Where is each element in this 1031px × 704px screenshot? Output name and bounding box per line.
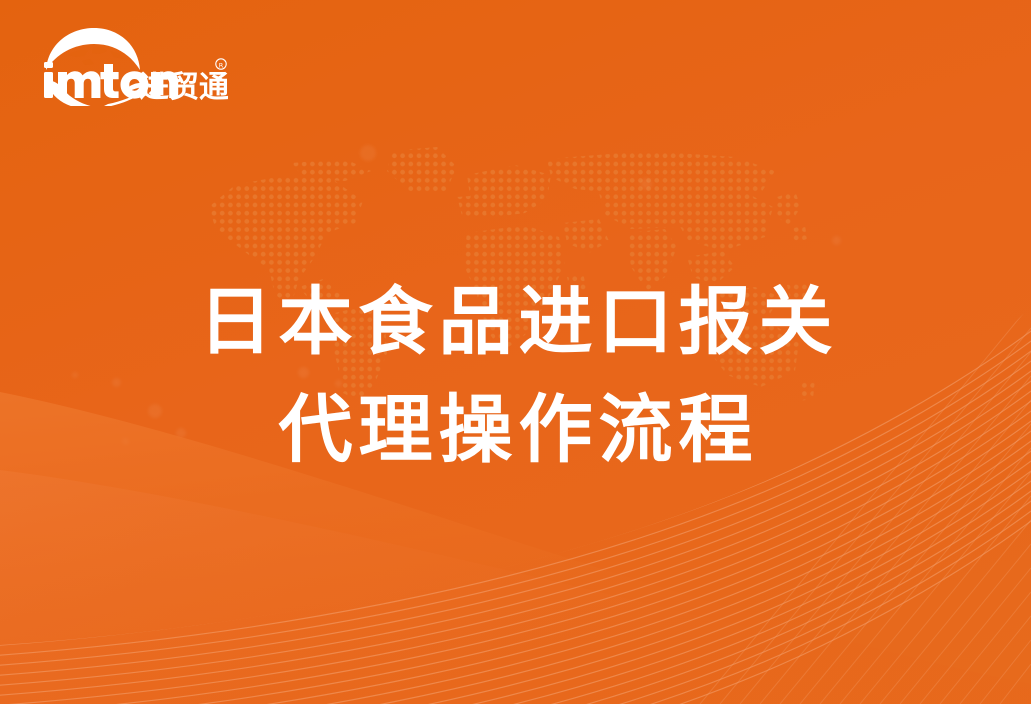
trademark-symbol: R — [216, 59, 226, 70]
logo-chinese-name: 进贸通 — [139, 70, 228, 105]
company-logo[interactable]: 进贸通 R — [38, 24, 228, 106]
title-line-2: 代理操作流程 — [0, 376, 1031, 484]
title-line-1: 日本食品进口报关 — [0, 268, 1031, 376]
svg-text:R: R — [219, 61, 224, 69]
globe-arc-icon — [46, 28, 140, 70]
cover-slide: 进贸通 R 日本食品进口报关 代理操作流程 — [0, 0, 1031, 704]
slide-title: 日本食品进口报关 代理操作流程 — [0, 268, 1031, 484]
svg-text:进贸通: 进贸通 — [139, 70, 228, 105]
